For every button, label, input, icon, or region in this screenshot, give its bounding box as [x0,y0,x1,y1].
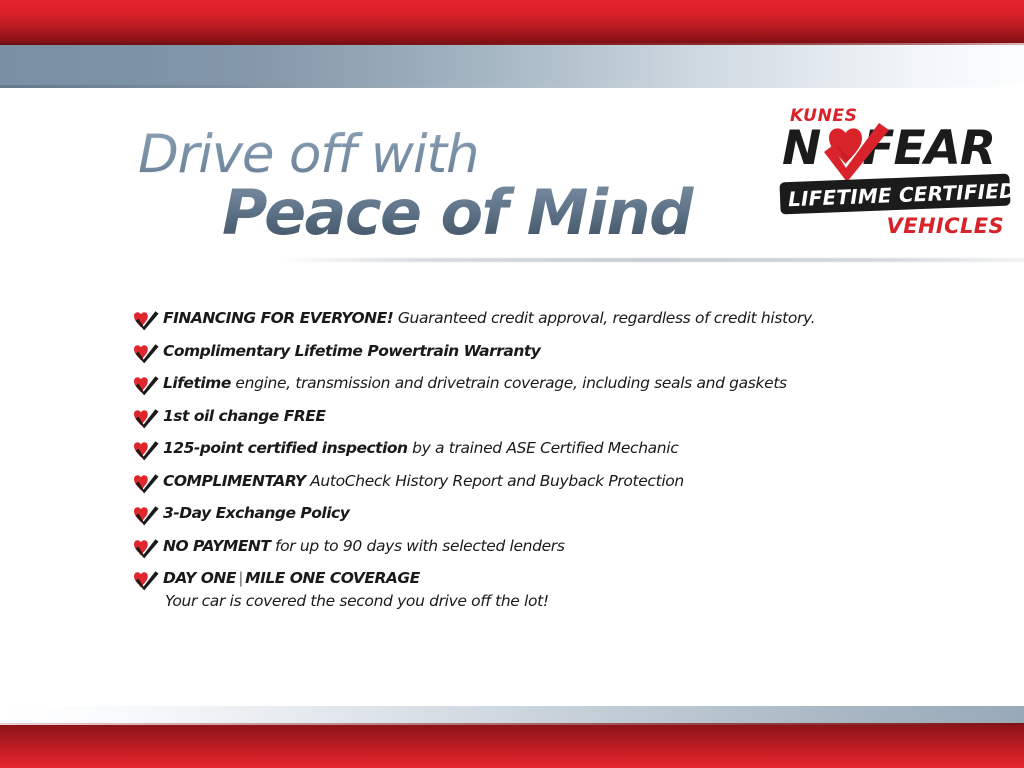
heart-check-icon [132,504,160,526]
list-item-text: 1st oil change FREE [163,406,325,427]
list-item-text: NO PAYMENT for up to 90 days with select… [163,536,565,557]
logo-letter-n: N [782,124,820,174]
list-item-text: 3-Day Exchange Policy [163,503,349,524]
benefits-list: FINANCING FOR EVERYONE! Guaranteed credi… [132,308,932,622]
logo-vehicles-text: VEHICLES [887,214,1004,238]
heart-check-icon [132,407,160,429]
list-item-bold: NO PAYMENT [163,537,270,555]
top-gray-banner-bar [0,45,1024,85]
list-item-text: FINANCING FOR EVERYONE! Guaranteed credi… [163,308,815,329]
list-item-body: DAY ONE|MILE ONE COVERAGE Your car is co… [163,568,549,612]
heart-check-icon [132,537,160,559]
list-item-bold: FINANCING FOR EVERYONE! [163,309,393,327]
bottom-red-banner-bar [0,725,1024,768]
list-item-bold: 1st oil change FREE [163,407,325,425]
list-item: NO PAYMENT for up to 90 days with select… [132,536,932,559]
headline-block: Drive off with Peace of Mind [138,126,758,246]
list-item: 125-point certified inspection by a trai… [132,438,932,461]
heart-check-icon [132,569,160,591]
list-item-bold: 3-Day Exchange Policy [163,504,349,522]
section-divider [280,258,1024,262]
promo-page: Drive off with Peace of Mind KUNES NFEAR… [0,0,1024,768]
list-item-bold: COMPLIMENTARY [163,472,306,490]
list-item: Complimentary Lifetime Powertrain Warran… [132,341,932,364]
list-item-regular: by a trained ASE Certified Mechanic [408,439,679,457]
list-item-text: Lifetime engine, transmission and drivet… [163,373,787,394]
list-item-text: Complimentary Lifetime Powertrain Warran… [163,341,540,362]
list-item-text: DAY ONE|MILE ONE COVERAGE [163,569,420,587]
list-item-text: 125-point certified inspection by a trai… [163,438,678,459]
list-item: DAY ONE|MILE ONE COVERAGE Your car is co… [132,568,932,612]
list-item-text: COMPLIMENTARY AutoCheck History Report a… [163,471,684,492]
list-item: Lifetime engine, transmission and drivet… [132,373,932,396]
list-item-bold-2: MILE ONE COVERAGE [245,569,420,587]
top-red-banner-bar [0,0,1024,43]
heart-check-icon [132,309,160,331]
top-gray-banner-edge [0,85,1024,88]
heart-check-icon [132,472,160,494]
list-item: 1st oil change FREE [132,406,932,429]
list-item-bold: Lifetime [163,374,231,392]
list-item-regular: Guaranteed credit approval, regardless o… [393,309,815,327]
bottom-gray-banner-bar [0,706,1024,723]
kunes-no-fear-logo: KUNES NFEAR LIFETIME CERTIFIED VEHICLES [778,106,1014,246]
heart-check-icon [816,120,890,182]
headline-line-2: Peace of Mind [222,180,758,246]
list-item: FINANCING FOR EVERYONE! Guaranteed credi… [132,308,932,331]
list-item-bold: DAY ONE [163,569,236,587]
heart-check-icon [132,374,160,396]
list-item-bold: 125-point certified inspection [163,439,408,457]
list-item: COMPLIMENTARY AutoCheck History Report a… [132,471,932,494]
heart-check-icon [132,439,160,461]
list-item-regular: for up to 90 days with selected lenders [270,537,564,555]
list-item-regular: AutoCheck History Report and Buyback Pro… [306,472,684,490]
heart-check-icon [132,342,160,364]
list-item-separator: | [236,569,245,587]
list-item: 3-Day Exchange Policy [132,503,932,526]
list-item-regular: engine, transmission and drivetrain cove… [231,374,787,392]
list-item-subtext: Your car is covered the second you drive… [165,591,549,612]
list-item-bold: Complimentary Lifetime Powertrain Warran… [163,342,540,360]
